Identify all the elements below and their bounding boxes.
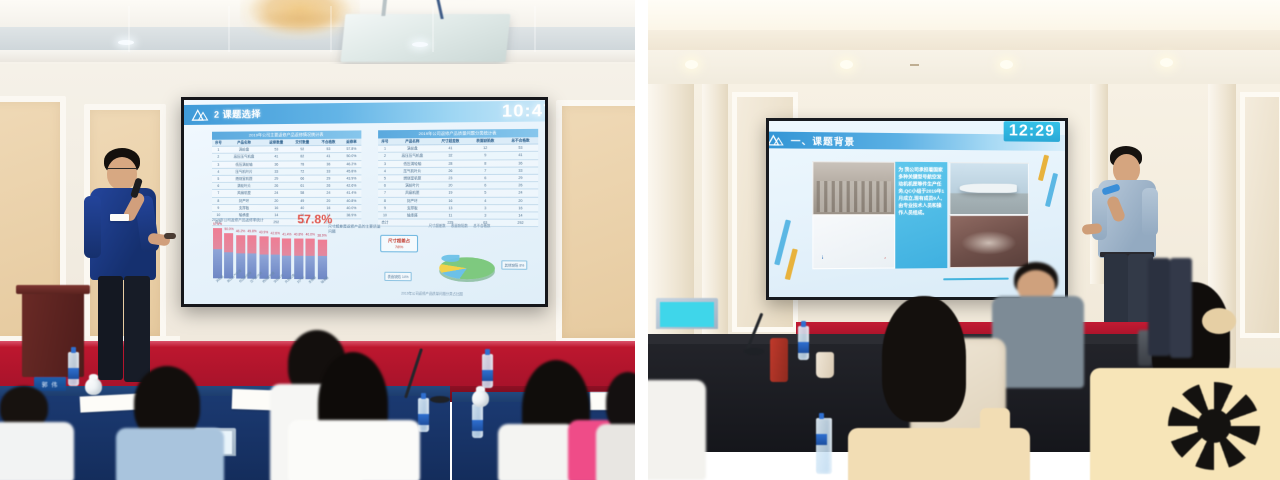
table-cell: 29 bbox=[315, 175, 341, 182]
audience-member bbox=[290, 352, 418, 480]
decor-stripe-blue bbox=[1045, 173, 1058, 207]
downlight-icon bbox=[1160, 58, 1173, 67]
bar: 38.9% bbox=[317, 240, 326, 280]
table-cell: 4 bbox=[212, 168, 225, 175]
pie-label-right: 其他缺陷 8% bbox=[501, 260, 527, 270]
table-cell: 6 bbox=[468, 182, 503, 190]
slide-title: 2 课题选择 bbox=[214, 107, 261, 121]
table-cell: 33 bbox=[503, 167, 538, 175]
downlight-icon bbox=[840, 60, 853, 69]
table-cell: 26 bbox=[433, 167, 468, 175]
bar-value-label: 50.0% bbox=[224, 227, 233, 231]
body-text-panel: 为 我公司承担着国家多种关键型号航空发动机机匣等件生产任务,QC小组于2019年… bbox=[895, 162, 947, 269]
ceiling-projector bbox=[340, 14, 510, 62]
table-right-grid: 序号 产品名称 尺寸超差数 表面缺陷数 总不合格数 1涡轮盘4112532高压压… bbox=[378, 137, 538, 227]
bar-chart: 57.8%50.0%46.2%45.8%43.9%42.6%41.4%40.8%… bbox=[213, 226, 327, 279]
ceiling-cove bbox=[648, 30, 1280, 52]
table-cell: 14 bbox=[263, 212, 289, 219]
hair-scrunchie bbox=[1202, 308, 1236, 334]
table-cell: 36 bbox=[315, 160, 341, 167]
bar-segment-top bbox=[306, 239, 315, 256]
bar-value-label: 46.2% bbox=[236, 229, 245, 233]
table-cell: 7 bbox=[378, 190, 392, 197]
table-cell: 封严环 bbox=[225, 197, 264, 204]
table-cell: 16 bbox=[263, 204, 289, 211]
table-cell: 292 bbox=[503, 219, 538, 227]
bar-segment-top bbox=[294, 239, 303, 256]
highlight-note: 尺寸超差是返修产品的主要质量问题 bbox=[328, 224, 382, 234]
tea-cup bbox=[85, 378, 102, 395]
thermos bbox=[770, 338, 788, 382]
table-cell: 66 bbox=[289, 175, 315, 182]
table-cell: 36 bbox=[503, 159, 538, 167]
table-cell: 29 bbox=[263, 175, 289, 182]
table-cell: 2 bbox=[378, 153, 392, 160]
pie-callout: 尺寸超差占 78% bbox=[380, 235, 418, 253]
table-cell: 风扇机匣 bbox=[225, 190, 264, 197]
table-cell: 20 bbox=[433, 182, 468, 190]
table-cell: 7 bbox=[468, 167, 503, 175]
table-cell: 49 bbox=[289, 197, 315, 204]
returns-table-right: 2019年公司返修产品质量问题分类统计表 序号 产品名称 尺寸超差数 表面缺陷数… bbox=[378, 129, 538, 228]
countdown-timer: 10:47 bbox=[502, 100, 545, 121]
table-cell: 41.4% bbox=[342, 190, 362, 197]
water-bottle bbox=[816, 418, 832, 474]
bar-chart-categories: 涡轮盘高压压气机盘低压涡轮轴压气机叶片燃烧室机匣涡轮叶片风扇机匣封严环支撑板轴承… bbox=[215, 280, 329, 285]
table-cell: 6 bbox=[378, 182, 392, 189]
chart-legend: 尺寸超差数 表面缺陷数 总不合格数 bbox=[429, 223, 491, 228]
table-cell: 封严环 bbox=[392, 197, 433, 204]
bar: 57.8% bbox=[213, 228, 222, 278]
table-cell: 5 bbox=[468, 189, 503, 197]
water-bottle bbox=[472, 404, 483, 438]
table-cell: 3 bbox=[468, 204, 503, 212]
downlight-icon bbox=[412, 42, 428, 47]
shirt-floral-print bbox=[1168, 382, 1260, 470]
engine-photo bbox=[949, 215, 1029, 268]
bar: 50.0% bbox=[224, 233, 233, 279]
decor-stripe-gold bbox=[785, 248, 798, 280]
mountain-logo-icon bbox=[767, 134, 784, 147]
table-cell: 82 bbox=[289, 153, 315, 160]
bar-value-label: 57.8% bbox=[213, 222, 222, 226]
table-cell: 1 bbox=[212, 146, 225, 153]
table-cell: 7 bbox=[212, 190, 225, 197]
audience-member bbox=[598, 372, 635, 480]
table-cell: 20 bbox=[263, 197, 289, 204]
table-cell: 燃烧室机匣 bbox=[392, 175, 433, 183]
returns-table-left: 2019年公司主要返修产品返修情况统计表 序号 产品名称 返修数量 交付数量 不… bbox=[212, 130, 361, 227]
table-cell: 50.0% bbox=[342, 153, 362, 160]
legend-item: 总不合格数 bbox=[473, 223, 490, 228]
table-cell: 24 bbox=[315, 190, 341, 197]
left-conference-room: 2 课题选择 10:47 2019年公司主要返修产品返修情况统计表 序号 产品名… bbox=[0, 0, 635, 480]
audience-member bbox=[648, 380, 704, 480]
table-cell: 41 bbox=[263, 153, 289, 160]
eyeglasses bbox=[106, 168, 138, 173]
bar-value-label: 43.9% bbox=[259, 230, 268, 234]
standing-person bbox=[1142, 258, 1200, 376]
table-cell: 涡轮叶片 bbox=[392, 182, 433, 189]
table-cell: 8 bbox=[378, 197, 392, 204]
legend-item: 尺寸超差数 bbox=[429, 223, 446, 228]
bar: 40.8% bbox=[294, 239, 303, 280]
table-cell: 支撑板 bbox=[392, 204, 433, 211]
table-left-grid: 序号 产品名称 返修数量 交付数量 不合格数 返修率 1涡轮盘53925357.… bbox=[212, 139, 361, 227]
table-cell: 46.2% bbox=[342, 160, 362, 167]
table-cell: 3 bbox=[468, 212, 503, 220]
bar-value-label: 40.8% bbox=[294, 232, 303, 236]
table-cell: 16 bbox=[503, 204, 538, 212]
table-cell: 292 bbox=[263, 219, 289, 226]
downlight-icon bbox=[685, 60, 698, 69]
table-cell: 支撑板 bbox=[225, 204, 264, 211]
screenshot-root: 2 课题选择 10:47 2019年公司主要返修产品返修情况统计表 序号 产品名… bbox=[0, 0, 1280, 480]
table-cell: 41 bbox=[315, 153, 341, 160]
factory-workshop-photo bbox=[812, 161, 895, 215]
table-cell: 40.0% bbox=[342, 204, 362, 211]
bar-value-label: 40.0% bbox=[306, 233, 315, 237]
countdown-timer: 12:29 bbox=[1004, 121, 1060, 142]
table-cell: 28 bbox=[433, 160, 468, 168]
bar-value-label: 38.9% bbox=[317, 234, 326, 238]
bar-segment-top bbox=[317, 240, 326, 257]
table-cell: 24 bbox=[263, 190, 289, 197]
table-cell: 6 bbox=[468, 174, 503, 182]
downlight-icon bbox=[118, 40, 134, 45]
legend-item: 表面缺陷数 bbox=[451, 223, 468, 228]
table-cell: 26 bbox=[315, 182, 341, 189]
table-cell: 45.8% bbox=[342, 168, 362, 175]
water-bottle bbox=[68, 352, 79, 386]
aircraft-photo bbox=[949, 162, 1029, 215]
decor-stripe-gold bbox=[1038, 155, 1049, 182]
table-cell: 42.6% bbox=[342, 182, 362, 189]
bar-segment-top bbox=[213, 228, 222, 249]
bar-segment-top bbox=[224, 233, 233, 252]
table-cell: 20 bbox=[315, 197, 341, 204]
microphone-base bbox=[744, 348, 764, 355]
table-row: 7风扇机匣24582441.4% bbox=[212, 190, 361, 197]
table-cell: 14 bbox=[503, 212, 538, 220]
pie-label-left: 表面缺陷 14% bbox=[384, 272, 411, 281]
table-cell: 1 bbox=[378, 145, 392, 152]
right-photograph: 一、课题背景 12:29 为 我公司承担着国家多种关键型号航空发动机机匣等件生产… bbox=[648, 0, 1280, 480]
table-cell: 9 bbox=[378, 204, 392, 211]
table-cell: 3 bbox=[378, 160, 392, 167]
table-cell: 风扇机匣 bbox=[392, 190, 433, 197]
ceiling-soffit bbox=[648, 50, 1280, 86]
table-row: 7风扇机匣19524 bbox=[378, 189, 538, 197]
table-cell: 43.9% bbox=[342, 175, 362, 182]
table-cell: 2 bbox=[212, 154, 225, 161]
water-bottle bbox=[482, 354, 493, 388]
laptop bbox=[656, 298, 718, 342]
table-cell: 58 bbox=[289, 190, 315, 197]
projection-screen-frame: 2 课题选择 10:47 2019年公司主要返修产品返修情况统计表 序号 产品名… bbox=[181, 97, 548, 307]
audience-member bbox=[0, 386, 74, 480]
table-cell: 6 bbox=[212, 183, 225, 190]
table-cell: 24 bbox=[503, 189, 538, 197]
table-cell: 5 bbox=[212, 175, 225, 182]
bar-segment-top bbox=[259, 237, 268, 255]
table-cell: 3 bbox=[212, 161, 225, 168]
pie-footnote: 2019年公司返修产品质量问题分类占比图 bbox=[401, 290, 463, 296]
table-cell: 5 bbox=[378, 175, 392, 182]
right-conference-room: 一、课题背景 12:29 为 我公司承担着国家多种关键型号航空发动机机匣等件生产… bbox=[648, 0, 1280, 480]
table-cell: 33 bbox=[315, 168, 341, 175]
table-cell: 33 bbox=[263, 168, 289, 175]
table-cell: 26 bbox=[503, 182, 538, 190]
table-cell: 57.8% bbox=[342, 145, 362, 152]
table-cell: 20 bbox=[503, 197, 538, 205]
table-cell: 压气机叶片 bbox=[392, 167, 433, 175]
table-cell: 4 bbox=[468, 197, 503, 204]
name-badge bbox=[110, 214, 129, 221]
ceiling bbox=[648, 0, 1280, 34]
bar-segment-top bbox=[236, 235, 245, 253]
slide-title: 一、课题背景 bbox=[791, 134, 855, 148]
table-cell: 13 bbox=[433, 204, 468, 211]
table-cell: 38.9% bbox=[342, 212, 362, 219]
table-cell: 29 bbox=[503, 174, 538, 182]
table-cell: 4 bbox=[378, 167, 392, 174]
body-text: 为 我公司承担着国家多种关键型号航空发动机机匣等件生产任务,QC小组于2019年… bbox=[898, 166, 944, 216]
pie-chart bbox=[439, 247, 495, 289]
callout-value: 78% bbox=[395, 244, 403, 249]
table-cell: 燃烧室机匣 bbox=[225, 175, 264, 182]
table-cell: 26 bbox=[263, 182, 289, 189]
table-cell: 8 bbox=[468, 159, 503, 167]
table-cell: 40.8% bbox=[342, 197, 362, 204]
table-cell: 19 bbox=[433, 189, 468, 196]
audience-member bbox=[844, 296, 1020, 480]
microphone-base bbox=[430, 396, 450, 403]
water-bottle bbox=[798, 326, 809, 360]
table-cell: 32 bbox=[433, 152, 468, 160]
bar-segment-top bbox=[247, 235, 256, 253]
audience-member bbox=[112, 366, 224, 480]
clicker-remote bbox=[164, 233, 176, 239]
tea-cup bbox=[472, 390, 489, 407]
presenter bbox=[76, 148, 176, 384]
bar-value-label: 42.6% bbox=[271, 231, 280, 235]
table-cell: 16 bbox=[433, 197, 468, 204]
table-cell: 10 bbox=[378, 212, 392, 219]
table-cell: 8 bbox=[212, 197, 225, 204]
highlight-value: 57.8% bbox=[297, 212, 332, 226]
chandelier bbox=[240, 0, 360, 40]
route-map-diagram bbox=[812, 215, 895, 269]
bar-segment-top bbox=[282, 238, 291, 255]
table-cell: 轴承座 bbox=[392, 212, 433, 219]
table-cell: 78 bbox=[289, 160, 315, 167]
decor-stripe-blue bbox=[774, 219, 791, 265]
table-cell bbox=[392, 219, 433, 227]
table-cell: 61 bbox=[289, 182, 315, 189]
table-cell: 涡轮叶片 bbox=[225, 183, 264, 190]
table-cell: 36 bbox=[263, 161, 289, 168]
bar-value-label: 45.8% bbox=[247, 229, 256, 233]
table-cell: 23 bbox=[433, 175, 468, 183]
projection-screen: 2 课题选择 10:47 2019年公司主要返修产品返修情况统计表 序号 产品名… bbox=[184, 100, 545, 304]
mountain-logo-icon bbox=[191, 108, 209, 122]
bar: 41.4% bbox=[282, 238, 291, 279]
tumbler bbox=[816, 352, 834, 378]
table-cell: 40 bbox=[289, 204, 315, 211]
left-photograph: 2 课题选择 10:47 2019年公司主要返修产品返修情况统计表 序号 产品名… bbox=[0, 0, 635, 480]
table-cell: 16 bbox=[315, 204, 341, 211]
bar-segment-top bbox=[271, 237, 280, 254]
table-cell: 9 bbox=[212, 204, 225, 211]
table-cell: 72 bbox=[289, 168, 315, 175]
table-row: 8封严环16420 bbox=[378, 197, 538, 205]
table-cell: 11 bbox=[433, 212, 468, 220]
wall-panel bbox=[556, 100, 635, 344]
pie-exploded-slice bbox=[441, 255, 459, 262]
ceiling-vent bbox=[910, 64, 919, 66]
bar: 40.0% bbox=[306, 239, 315, 279]
table-row: 8封严环20492040.8% bbox=[212, 197, 361, 204]
bar-value-label: 41.4% bbox=[282, 232, 291, 236]
downlight-icon bbox=[1000, 60, 1013, 69]
